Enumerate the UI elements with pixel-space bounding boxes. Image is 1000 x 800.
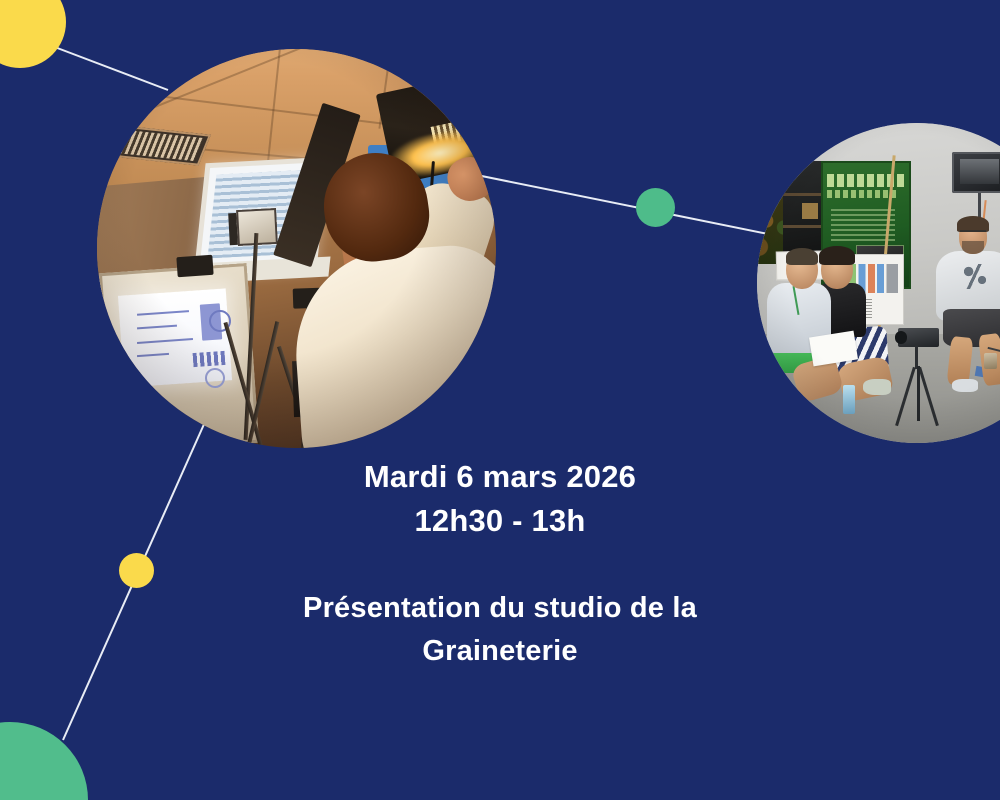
photo-studio-setup: LCD HD: [97, 49, 496, 448]
event-text-block: Mardi 6 mars 2026 12h30 - 13h Présentati…: [0, 455, 1000, 673]
event-title-line-2: Graineterie: [150, 630, 850, 673]
event-datetime: Mardi 6 mars 2026 12h30 - 13h: [0, 455, 1000, 543]
event-poster: LCD HD: [0, 0, 1000, 800]
green-corner-circle: [0, 722, 88, 800]
green-accent-dot: [636, 188, 675, 227]
event-title-line-1: Présentation du studio de la: [150, 587, 850, 630]
photo-audience: [757, 123, 1000, 443]
event-date: Mardi 6 mars 2026: [0, 455, 1000, 499]
photo-audience-content: [757, 123, 1000, 443]
yellow-corner-circle: [0, 0, 66, 68]
photo-studio-setup-content: LCD HD: [97, 49, 496, 448]
event-title: Présentation du studio de la Graineterie: [0, 587, 1000, 673]
line-studio-photo-to-audience-photo: [452, 170, 768, 234]
event-time: 12h30 - 13h: [0, 499, 1000, 543]
